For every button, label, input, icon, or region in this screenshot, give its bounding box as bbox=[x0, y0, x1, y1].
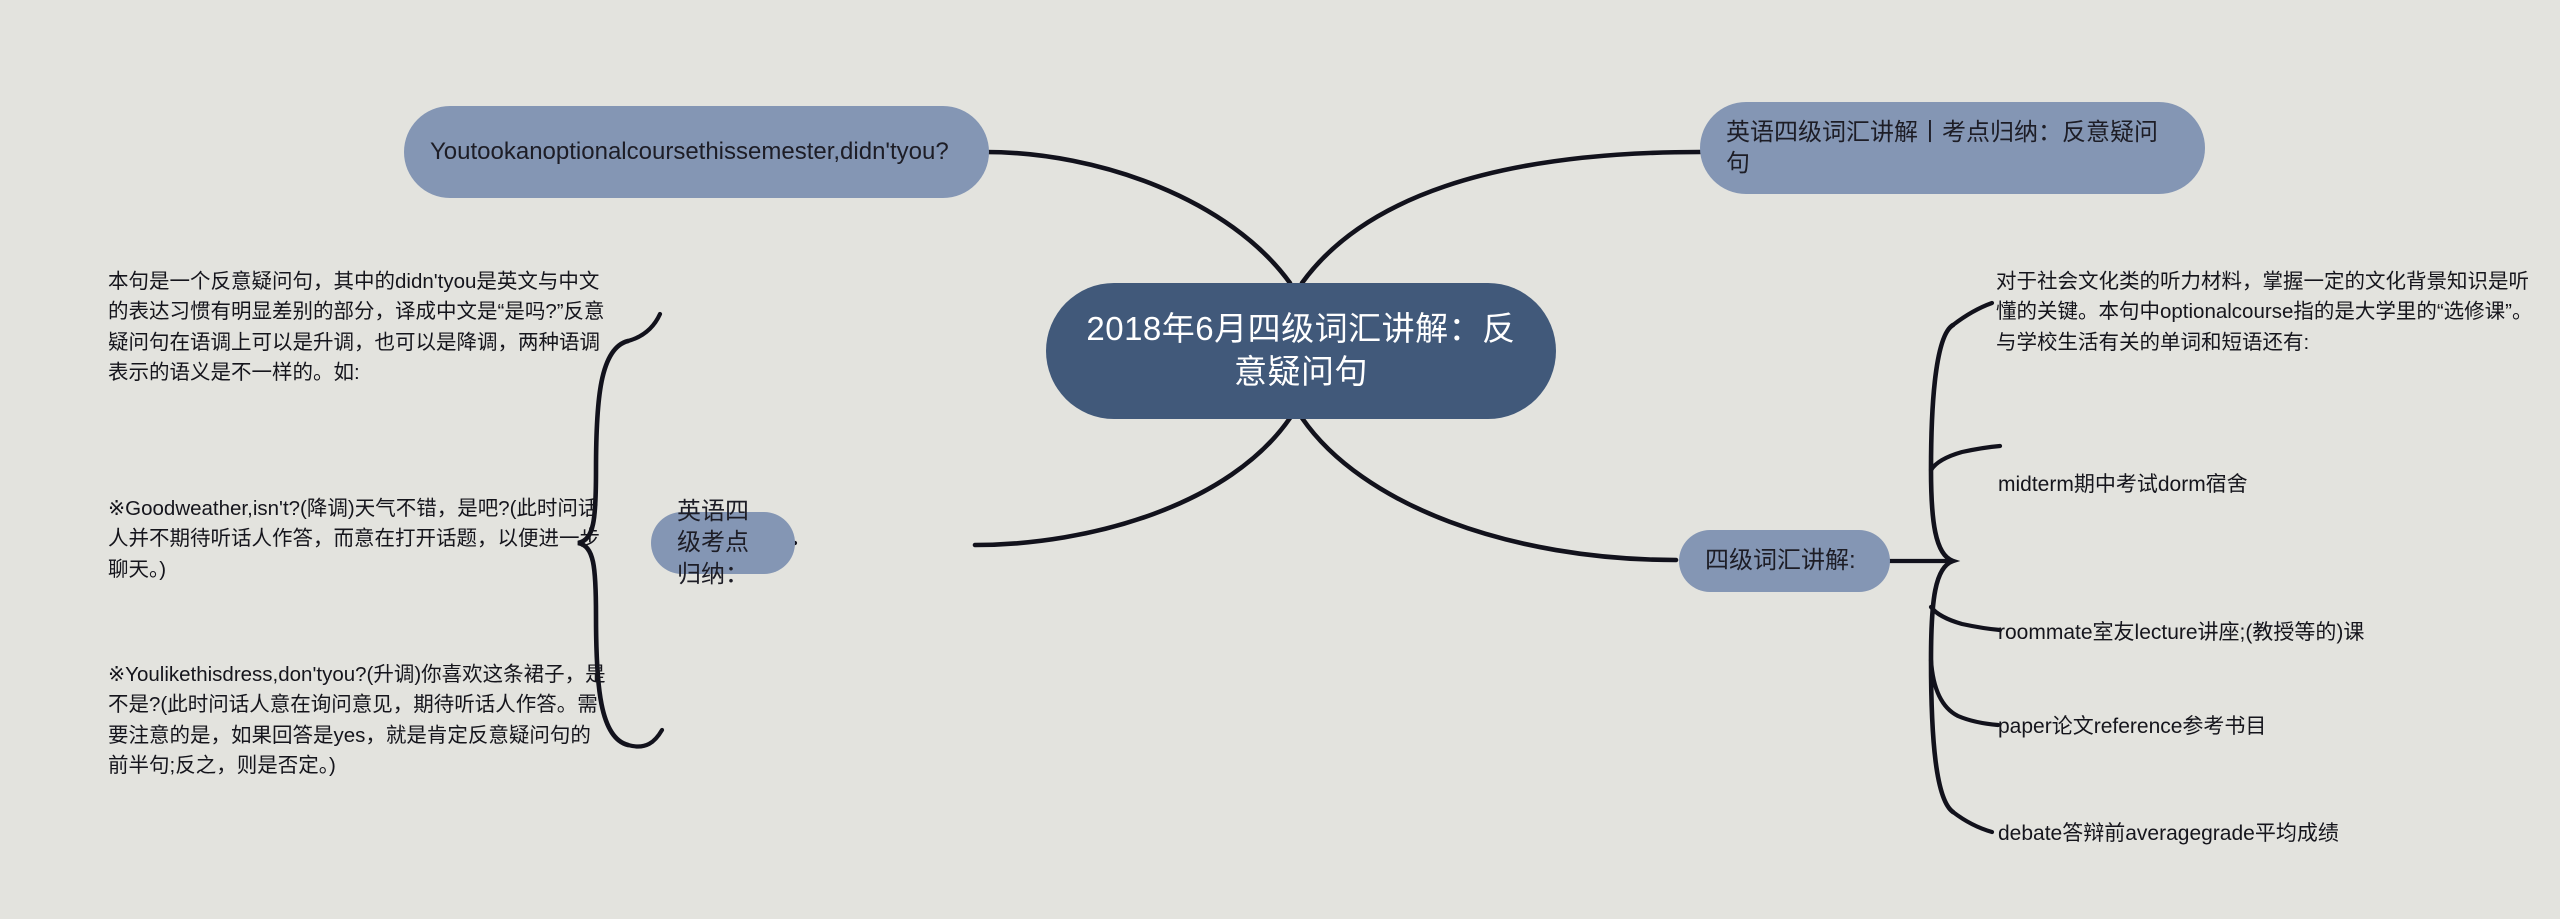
branch-node-mid-left[interactable]: 英语四级考点归纳： bbox=[651, 512, 795, 574]
connector-center-to-top-left bbox=[985, 152, 1290, 283]
left-note-1: 本句是一个反意疑问句，其中的didn'tyou是英文与中文的表达习惯有明显差别的… bbox=[108, 267, 608, 388]
right-note-2: midterm期中考试dorm宿舍 bbox=[1998, 470, 2248, 499]
connector-left-branch-note-1 bbox=[628, 314, 660, 341]
branch-node-mid-right[interactable]: 四级词汇讲解: bbox=[1679, 530, 1890, 592]
left-note-2: ※Goodweather,isn't?(降调)天气不错，是吧?(此时问话人并不期… bbox=[108, 494, 608, 585]
branch-node-top-left[interactable]: Youtookanoptionalcoursethissemester,didn… bbox=[404, 106, 989, 198]
connector-center-to-mid-left bbox=[975, 418, 1290, 545]
connector-center-to-top-right bbox=[1302, 152, 1700, 283]
connector-center-to-mid-right bbox=[1302, 418, 1676, 560]
connector-right-branch-note-1 bbox=[1953, 303, 1992, 325]
branch-node-mid-left-label: 英语四级考点归纳： bbox=[677, 496, 769, 590]
right-note-4: paper论文reference参考书目 bbox=[1998, 712, 2266, 741]
left-note-3: ※Youlikethisdress,don'tyou?(升调)你喜欢这条裙子，是… bbox=[108, 660, 608, 781]
branch-node-top-right-label: 英语四级词汇讲解丨考点归纳：反意疑问句 bbox=[1726, 117, 2179, 179]
connector-right-branch-note-4 bbox=[1931, 660, 1998, 725]
branch-node-top-right[interactable]: 英语四级词汇讲解丨考点归纳：反意疑问句 bbox=[1700, 102, 2205, 194]
mindmap-canvas: 2018年6月四级词汇讲解：反意疑问句 Youtookanoptionalcou… bbox=[0, 0, 2560, 919]
connector-right-branch-note-2 bbox=[1931, 446, 2000, 470]
central-node-label: 2018年6月四级词汇讲解：反意疑问句 bbox=[1076, 308, 1526, 394]
connector-right-branch-note-5 bbox=[1953, 812, 1992, 832]
connector-right-branch-note-3 bbox=[1931, 607, 2000, 630]
branch-node-mid-right-label: 四级词汇讲解: bbox=[1705, 545, 1864, 576]
right-note-5: debate答辩前averagegrade平均成绩 bbox=[1998, 819, 2339, 848]
connector-right-spine bbox=[1931, 325, 1953, 812]
right-note-3: roommate室友lecture讲座;(教授等的)课 bbox=[1998, 618, 2364, 647]
central-node[interactable]: 2018年6月四级词汇讲解：反意疑问句 bbox=[1046, 283, 1556, 419]
branch-node-top-left-label: Youtookanoptionalcoursethissemester,didn… bbox=[430, 136, 963, 167]
connector-left-branch-note-3 bbox=[628, 730, 662, 747]
right-note-1: 对于社会文化类的听力材料，掌握一定的文化背景知识是听懂的关键。本句中option… bbox=[1996, 267, 2536, 358]
